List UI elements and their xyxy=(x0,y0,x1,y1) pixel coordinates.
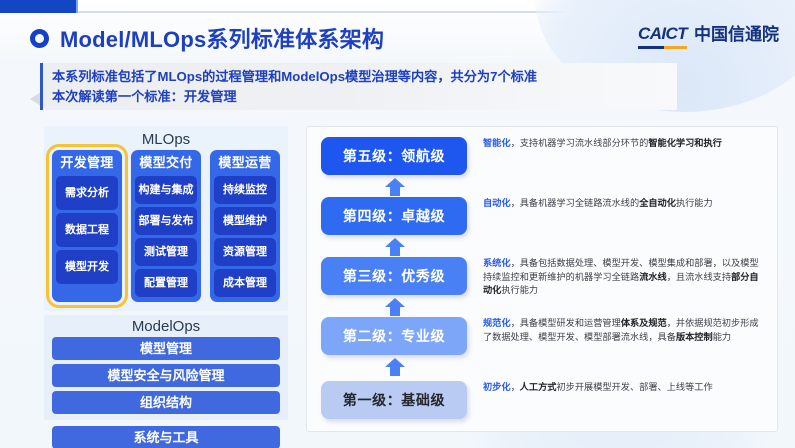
arrow-up-icon xyxy=(384,177,406,199)
mlops-architecture-panel: MLOps 开发管理需求分析数据工程模型开发模型交付构建与集成部署与发布测试管理… xyxy=(44,126,288,448)
mlops-item-chip[interactable]: 成本管理 xyxy=(214,269,276,297)
maturity-level-box[interactable]: 第五级：领航级 xyxy=(321,137,467,175)
slide-header: Model/MLOps系列标准体系架构 xyxy=(30,22,384,54)
mlops-item-chip[interactable]: 部署与发布 xyxy=(135,207,197,235)
slide-root: Model/MLOps系列标准体系架构 CAICT 中国信通院 本系列标准包括了… xyxy=(0,0,795,448)
modelops-bar-group: 模型管理模型安全与风险管理组织结构 xyxy=(52,337,280,414)
modelops-bar[interactable]: 模型管理 xyxy=(52,337,280,360)
maturity-level-row-2: 第二级：专业级规范化，具备模型研发和运营管理体系及规范，并依据规范初步形成了数据… xyxy=(321,317,767,355)
system-and-tools-bar[interactable]: 系统与工具 xyxy=(52,426,280,448)
mlops-column-group: 开发管理需求分析数据工程模型开发模型交付构建与集成部署与发布测试管理配置管理模型… xyxy=(52,150,280,302)
maturity-level-box[interactable]: 第二级：专业级 xyxy=(321,317,467,355)
top-left-accent-bar xyxy=(0,0,78,13)
mlops-item-chip[interactable]: 持续监控 xyxy=(214,176,276,204)
caict-logo: CAICT 中国信通院 xyxy=(638,20,779,49)
logo-chinese-name: 中国信通院 xyxy=(694,20,779,49)
mlops-column-2[interactable]: 模型交付构建与集成部署与发布测试管理配置管理 xyxy=(131,150,201,302)
mlops-item-chip[interactable]: 模型开发 xyxy=(56,250,118,284)
mlops-item-chip[interactable]: 模型维护 xyxy=(214,207,276,235)
mlops-column-1[interactable]: 开发管理需求分析数据工程模型开发 xyxy=(52,150,122,302)
logo-caict-text: CAICT xyxy=(638,24,687,43)
page-title: Model/MLOps系列标准体系架构 xyxy=(60,22,384,54)
mlops-item-chip[interactable]: 构建与集成 xyxy=(135,176,197,204)
maturity-level-description: 规范化，具备模型研发和运营管理体系及规范，并依据规范初步形成了数据处理、模型开发… xyxy=(483,317,761,344)
maturity-level-description: 系统化，具备包括数据处理、模型开发、模型集成和部署，以及模型持续监控和更新维护的… xyxy=(483,257,761,298)
subtitle-line-1: 本系列标准包括了MLOps的过程管理和ModelOps模型治理等内容，共分为7个… xyxy=(52,67,677,87)
maturity-level-description: 自动化，具备机器学习全链路流水线的全自动化执行能力 xyxy=(483,197,761,211)
logo-caict-wordmark: CAICT xyxy=(638,24,687,49)
mlops-item-chip[interactable]: 数据工程 xyxy=(56,213,118,247)
mlops-item-chip[interactable]: 测试管理 xyxy=(135,238,197,266)
arrow-up-icon xyxy=(384,297,406,319)
maturity-level-box[interactable]: 第三级：优秀级 xyxy=(321,257,467,295)
maturity-level-row-5: 第五级：领航级智能化，支持机器学习流水线部分环节的智能化学习和执行 xyxy=(321,137,767,175)
maturity-level-description: 初步化，人工方式初步开展模型开发、部署、上线等工作 xyxy=(483,381,761,395)
mlops-column-3[interactable]: 模型运营持续监控模型维护资源管理成本管理 xyxy=(210,150,280,302)
modelops-section: ModelOps 模型管理模型安全与风险管理组织结构 xyxy=(44,315,288,420)
subtitle-banner: 本系列标准包括了MLOps的过程管理和ModelOps模型治理等内容，共分为7个… xyxy=(40,63,677,110)
mlops-section-title: MLOps xyxy=(52,129,280,150)
logo-underline-icon xyxy=(638,46,687,49)
mlops-section: MLOps 开发管理需求分析数据工程模型开发模型交付构建与集成部署与发布测试管理… xyxy=(44,126,288,311)
mlops-column-title: 模型交付 xyxy=(135,153,197,173)
modelops-section-title: ModelOps xyxy=(52,316,280,337)
mlops-column-title: 模型运营 xyxy=(214,153,276,173)
maturity-model-panel: 第五级：领航级智能化，支持机器学习流水线部分环节的智能化学习和执行第四级：卓越级… xyxy=(306,126,778,432)
maturity-level-row-4: 第四级：卓越级自动化，具备机器学习全链路流水线的全自动化执行能力 xyxy=(321,197,767,235)
arrow-up-icon xyxy=(384,357,406,379)
arrow-up-icon xyxy=(384,237,406,259)
mlops-column-title: 开发管理 xyxy=(56,153,118,173)
ring-bullet-icon xyxy=(28,26,52,50)
maturity-level-row-1: 第一级：基础级初步化，人工方式初步开展模型开发、部署、上线等工作 xyxy=(321,381,767,419)
mlops-item-chip[interactable]: 资源管理 xyxy=(214,238,276,266)
maturity-level-box[interactable]: 第四级：卓越级 xyxy=(321,197,467,235)
mlops-item-chip[interactable]: 需求分析 xyxy=(56,176,118,210)
subtitle-line-2: 本次解读第一个标准：开发管理 xyxy=(52,87,677,107)
modelops-bar[interactable]: 组织结构 xyxy=(52,391,280,414)
maturity-level-row-3: 第三级：优秀级系统化，具备包括数据处理、模型开发、模型集成和部署，以及模型持续监… xyxy=(321,257,767,298)
maturity-level-box[interactable]: 第一级：基础级 xyxy=(321,381,467,419)
mlops-item-chip[interactable]: 配置管理 xyxy=(135,269,197,297)
modelops-bar[interactable]: 模型安全与风险管理 xyxy=(52,364,280,387)
maturity-level-description: 智能化，支持机器学习流水线部分环节的智能化学习和执行 xyxy=(483,137,761,151)
